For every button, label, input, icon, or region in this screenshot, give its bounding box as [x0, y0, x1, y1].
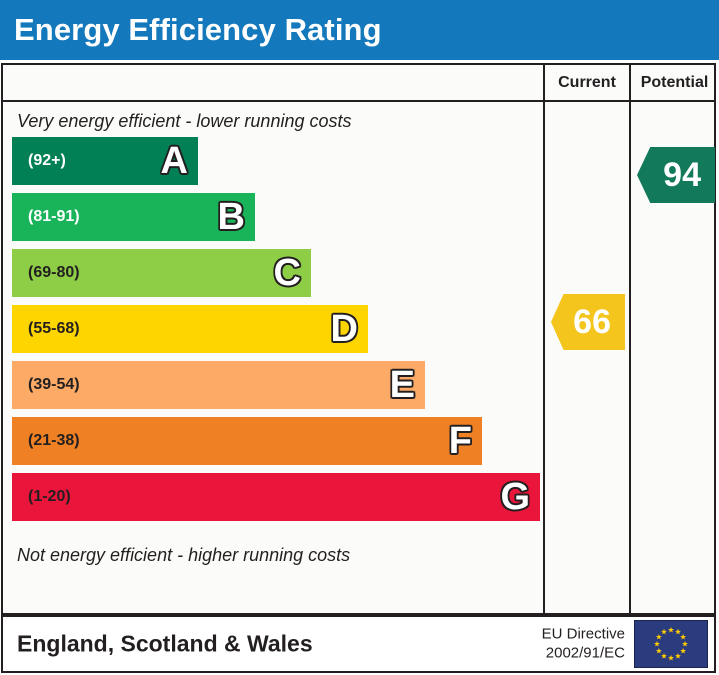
band-d-letter: D	[331, 310, 358, 348]
potential-rating-marker: 94	[637, 147, 715, 203]
band-c: (69-80) C	[12, 249, 311, 297]
band-a-letter: A	[161, 142, 188, 180]
column-divider-current	[543, 102, 545, 613]
column-header-current: Current	[543, 65, 629, 100]
column-header-potential: Potential	[629, 65, 718, 100]
potential-rating-value: 94	[663, 156, 701, 195]
energy-efficiency-rating-chart: Energy Efficiency Rating Current Potenti…	[0, 0, 719, 675]
band-c-range: (69-80)	[28, 264, 80, 282]
band-g: (1-20) G	[12, 473, 540, 521]
band-b: (81-91) B	[12, 193, 255, 241]
footer-directive: EU Directive 2002/91/EC	[542, 625, 625, 663]
band-list: (92+) A (81-91) B (69-80) C (55-68) D (3…	[3, 137, 543, 535]
caption-not-efficient: Not energy efficient - higher running co…	[3, 535, 543, 575]
band-e-range: (39-54)	[28, 376, 80, 394]
page-title: Energy Efficiency Rating	[14, 12, 382, 48]
footer-directive-line2: 2002/91/EC	[542, 644, 625, 663]
band-d-range: (55-68)	[28, 320, 80, 338]
column-divider-potential	[629, 102, 631, 613]
caption-very-efficient: Very energy efficient - lower running co…	[3, 102, 543, 140]
band-a: (92+) A	[12, 137, 198, 185]
band-e-letter: E	[390, 366, 415, 404]
band-b-range: (81-91)	[28, 208, 80, 226]
band-f-letter: F	[449, 422, 472, 460]
footer-region-label: England, Scotland & Wales	[17, 631, 313, 658]
chart-footer: England, Scotland & Wales EU Directive 2…	[1, 615, 716, 673]
band-b-letter: B	[218, 198, 245, 236]
footer-directive-line1: EU Directive	[542, 625, 625, 644]
chart-title-bar: Energy Efficiency Rating	[0, 0, 719, 60]
band-g-letter: G	[500, 478, 530, 516]
band-e: (39-54) E	[12, 361, 425, 409]
column-header-row: Current Potential	[3, 65, 714, 102]
band-c-letter: C	[274, 254, 301, 292]
eu-flag-icon	[634, 620, 708, 668]
band-g-range: (1-20)	[28, 488, 71, 506]
current-rating-value: 66	[573, 303, 611, 342]
band-f-range: (21-38)	[28, 432, 80, 450]
band-a-range: (92+)	[28, 152, 66, 170]
current-rating-marker: 66	[551, 294, 625, 350]
band-f: (21-38) F	[12, 417, 482, 465]
band-d: (55-68) D	[12, 305, 368, 353]
